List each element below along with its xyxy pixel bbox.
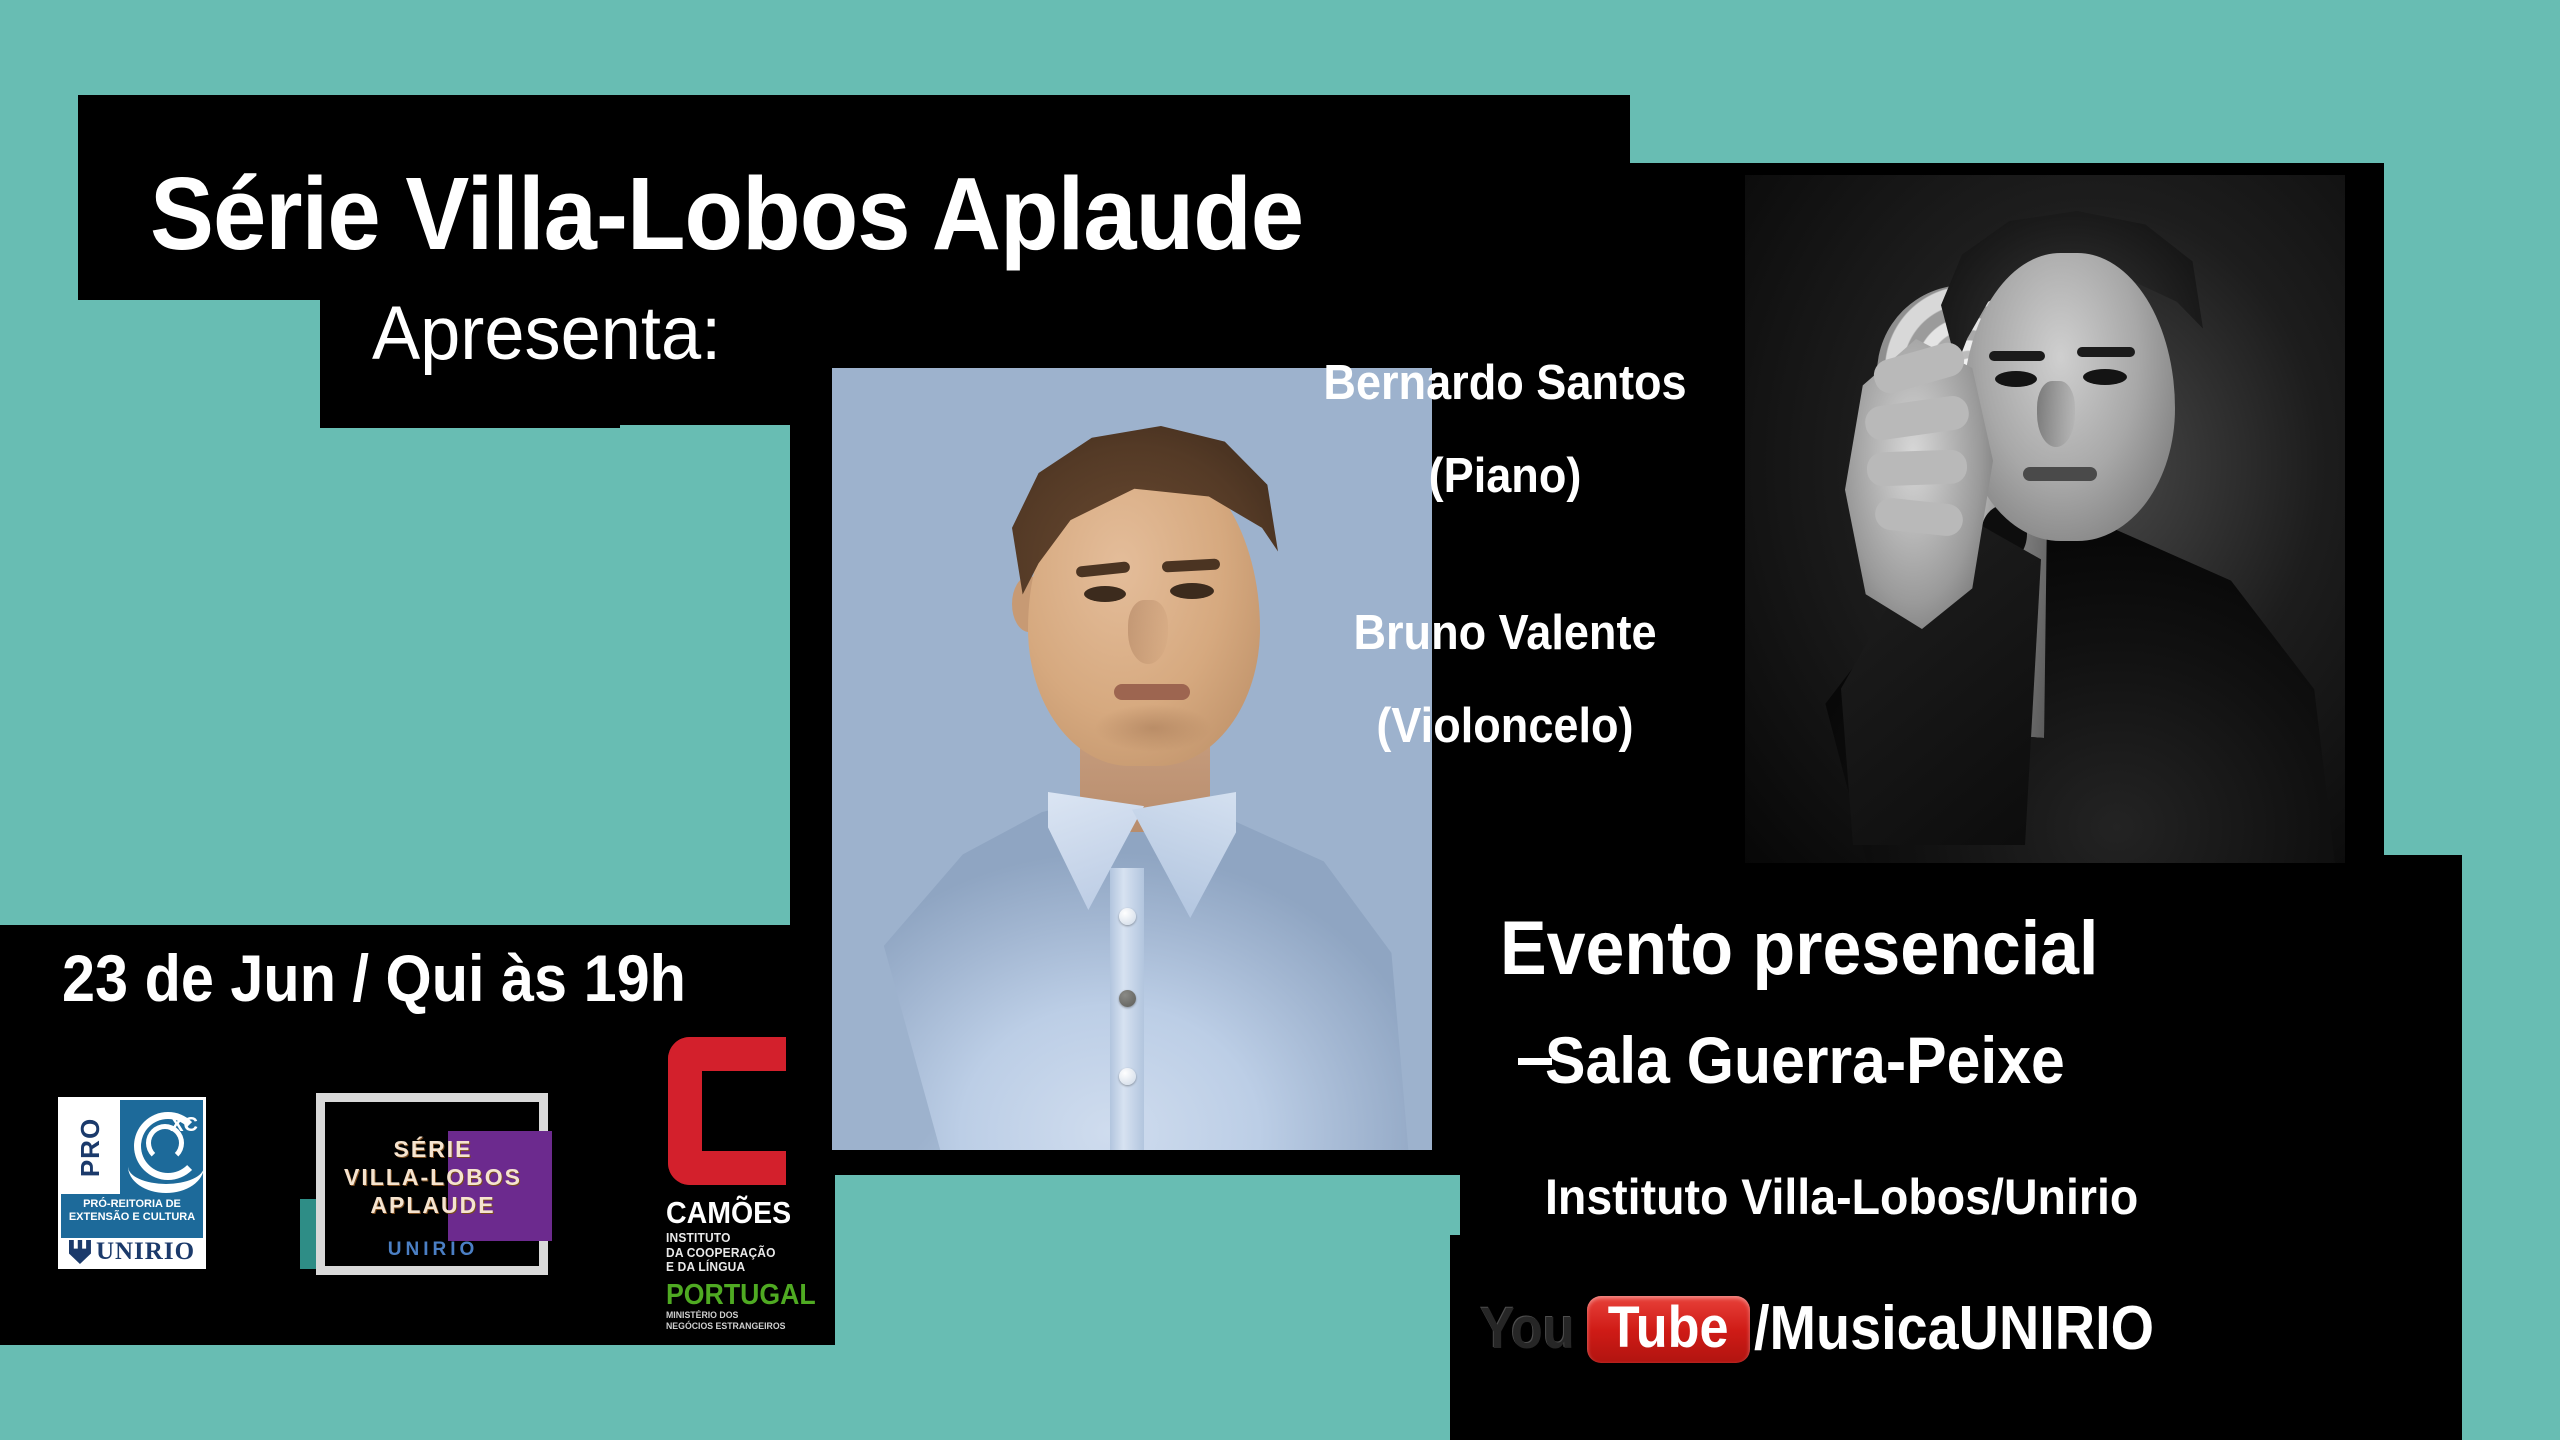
cellist-eye-left [1995,371,2037,387]
pianist-nose [1128,600,1168,664]
youtube-you-text: You [1480,1300,1575,1358]
serie-logo-university: UNIRIO [330,1239,536,1261]
performer-1-name: Bernardo Santos [1206,355,1804,411]
cellist-mouth [2023,467,2097,481]
unirio-crest-icon [69,1240,91,1264]
pianist-chin-shadow [1094,704,1212,752]
youtube-channel-handle: /MusicaUNIRIO [1754,1298,2154,1360]
camoes-subtitle-line3: E DA LÍNGUA [666,1260,776,1275]
camoes-institute-logo: CAMÕES INSTITUTO DA COOPERAÇÃO E DA LÍNG… [660,1027,830,1327]
swirl-arc [128,1140,204,1193]
pianist-eye-left [1084,586,1126,602]
cellist-finger-3 [1866,449,1967,486]
performer-2-instrument: (Violoncelo) [1206,698,1804,754]
proexc-logo-mark: PRO XC [61,1100,203,1194]
pianist-eye-right [1170,583,1214,599]
serie-logo-line1: SÉRIE [330,1135,536,1163]
serie-logo-wordmark: SÉRIE VILLA-LOBOS APLAUDE [330,1135,536,1219]
event-datetime: 23 de Jun / Qui às 19h [62,940,686,1016]
cellist-brow-left [1989,351,2045,361]
proexc-subtitle-line1: PRÓ-REITORIA DE [63,1198,201,1211]
proexc-subtitle: PRÓ-REITORIA DE EXTENSÃO E CULTURA [61,1194,203,1238]
camoes-name: CAMÕES [666,1195,791,1231]
cellist-eye-right [2083,369,2127,385]
cellist-nose [2037,381,2075,447]
sponsor-logo-row: PRO XC PRÓ-REITORIA DE EXTENSÃO E CULTUR… [0,1075,835,1335]
performer-1-instrument: (Piano) [1206,448,1804,504]
cellist-brow-right [2077,347,2135,357]
proexc-university-row: UNIRIO [61,1238,203,1266]
proexc-pro-text: PRO [75,1117,106,1176]
shirt-button-3 [1119,1068,1136,1085]
camoes-subtitle-line2: DA COOPERAÇÃO [666,1246,776,1261]
proexc-logo: PRO XC PRÓ-REITORIA DE EXTENSÃO E CULTUR… [58,1097,206,1269]
event-venue: Sala Guerra-Peixe [1545,1022,2065,1098]
serie-logo-line3: APLAUDE [330,1191,536,1219]
pianist-mouth [1114,684,1190,700]
camoes-subtitle-line1: INSTITUTO [666,1231,776,1246]
proexc-university-text: UNIRIO [96,1238,195,1266]
camoes-ministry: MINISTÉRIO DOS NEGÓCIOS ESTRANGEIROS [666,1311,785,1333]
youtube-link[interactable]: You Tube /MusicaUNIRIO [1480,1292,2198,1366]
serie-logo-line2: VILLA-LOBOS [330,1163,536,1191]
shirt-button-2 [1119,990,1136,1007]
youtube-tube-text: Tube [1608,1299,1729,1357]
camoes-ministry-line2: NEGÓCIOS ESTRANGEIROS [666,1322,785,1333]
camoes-c-mark-icon [668,1037,786,1185]
proexc-swirl-icon: XC [120,1100,203,1194]
camoes-subtitle: INSTITUTO DA COOPERAÇÃO E DA LÍNGUA [666,1231,776,1275]
performer-2-name: Bruno Valente [1206,605,1804,661]
shirt-button-1 [1119,908,1136,925]
event-format: Evento presencial [1500,905,2098,992]
presents-label: Apresenta: [372,290,721,377]
proexc-pro-column: PRO [61,1100,120,1194]
serie-villa-lobos-aplaude-logo: SÉRIE VILLA-LOBOS APLAUDE UNIRIO [300,1087,562,1285]
series-title: Série Villa-Lobos Aplaude [150,155,1303,273]
event-institution: Instituto Villa-Lobos/Unirio [1545,1168,2138,1226]
cellist-photo [1745,175,2345,863]
event-poster: Série Villa-Lobos Aplaude Apresenta: Ber… [0,0,2560,1440]
youtube-tube-badge: Tube [1587,1296,1749,1363]
camoes-country: PORTUGAL [666,1279,816,1312]
proexc-xc-text: XC [170,1114,198,1137]
proexc-subtitle-line2: EXTENSÃO E CULTURA [63,1211,201,1224]
teal-notch-gap [835,1175,1460,1235]
teal-notch-left [620,425,790,925]
